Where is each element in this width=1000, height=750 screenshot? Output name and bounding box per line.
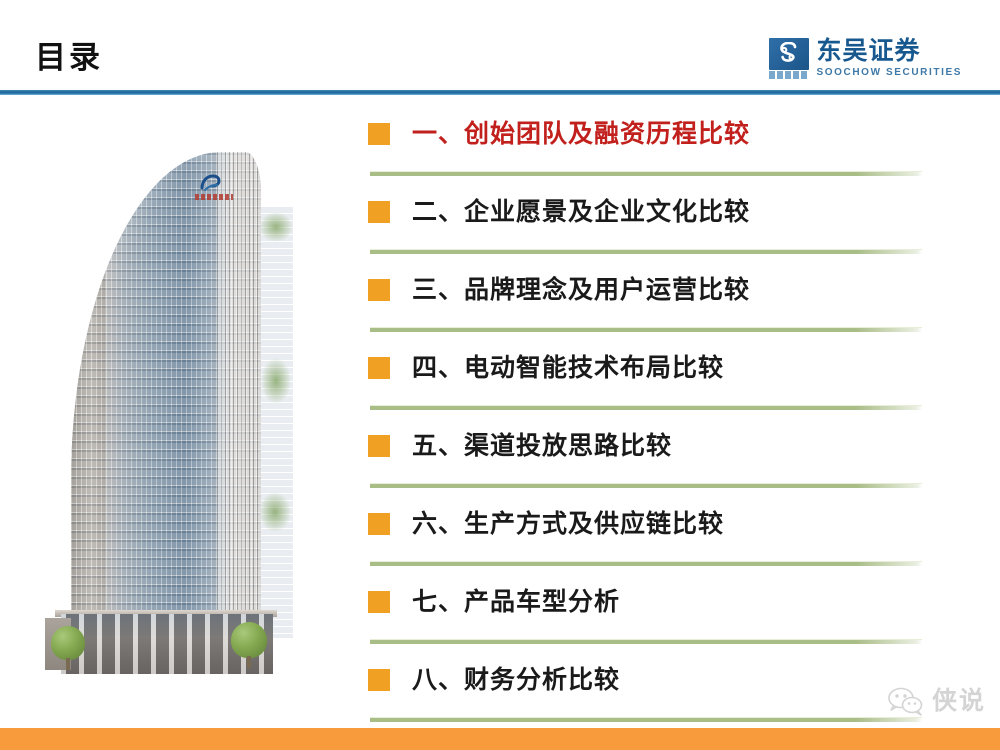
agenda-divider-4 (368, 398, 928, 416)
page-title: 目录 (35, 42, 103, 73)
header-divider (0, 90, 1000, 95)
brand-text: 东吴证券 SOOCHOW SECURITIES (817, 39, 962, 78)
tower-body (71, 152, 261, 650)
brand-mark-glyph (776, 42, 801, 66)
bullet-square-icon (368, 123, 390, 145)
agenda-divider-6 (368, 554, 928, 572)
agenda-item-1[interactable]: 一、创始团队及融资历程比较 (368, 104, 928, 164)
brand-name-cn: 东吴证券 (817, 39, 962, 64)
slide-root: 目录 东吴证券 SOOCHOW SECURITIES (0, 0, 1000, 750)
agenda-item-label: 三、品牌理念及用户运营比较 (412, 278, 750, 303)
footer-bar (0, 728, 1000, 750)
agenda-divider-1 (368, 164, 928, 182)
slide-header: 目录 东吴证券 SOOCHOW SECURITIES (0, 0, 1000, 94)
bullet-square-icon (368, 357, 390, 379)
tree-left-trunk (66, 658, 70, 670)
agenda-item-5[interactable]: 五、渠道投放思路比较 (368, 416, 928, 476)
agenda-item-6[interactable]: 六、生产方式及供应链比较 (368, 494, 928, 554)
agenda-item-label: 二、企业愿景及企业文化比较 (412, 200, 750, 225)
agenda-divider-2 (368, 242, 928, 260)
brand-name-en: SOOCHOW SECURITIES (817, 68, 962, 78)
bullet-square-icon (368, 279, 390, 301)
agenda-item-2[interactable]: 二、企业愿景及企业文化比较 (368, 182, 928, 242)
agenda-item-label: 六、生产方式及供应链比较 (412, 512, 724, 537)
building-logo-glyph (199, 174, 221, 192)
agenda-divider-5 (368, 476, 928, 494)
agenda-list: 一、创始团队及融资历程比较 二、企业愿景及企业文化比较 三、品牌理念及用户运营比… (368, 104, 928, 728)
slab-reflection-3 (259, 492, 291, 532)
tree-right-trunk (247, 656, 251, 668)
agenda-item-label: 八、财务分析比较 (412, 668, 620, 693)
agenda-item-label: 一、创始团队及融资历程比较 (412, 122, 750, 147)
bullet-square-icon (368, 201, 390, 223)
watermark-label: 侠说 (932, 689, 986, 714)
agenda-item-3[interactable]: 三、品牌理念及用户运营比较 (368, 260, 928, 320)
agenda-item-label: 四、电动智能技术布局比较 (412, 356, 724, 381)
agenda-item-7[interactable]: 七、产品车型分析 (368, 572, 928, 632)
bullet-square-icon (368, 669, 390, 691)
agenda-divider-3 (368, 320, 928, 338)
building-logo-text (195, 194, 233, 200)
slab-reflection-2 (261, 358, 291, 404)
wechat-icon (886, 686, 926, 716)
soochow-s-mark-icon (769, 38, 809, 78)
agenda-item-label: 五、渠道投放思路比较 (412, 434, 672, 459)
agenda-item-label: 七、产品车型分析 (412, 590, 620, 615)
agenda-divider-7 (368, 632, 928, 650)
slab-reflection-1 (259, 212, 293, 242)
tree-left-icon (51, 626, 85, 660)
office-tower-photo (45, 120, 310, 680)
tower-service-core (217, 152, 261, 650)
bullet-square-icon (368, 591, 390, 613)
bullet-square-icon (368, 513, 390, 535)
building-facade-logo-icon (195, 174, 233, 204)
watermark: 侠说 (886, 686, 986, 716)
wechat-icon-glyph (886, 686, 926, 716)
agenda-item-4[interactable]: 四、电动智能技术布局比较 (368, 338, 928, 398)
brand-mark-strip (769, 70, 809, 79)
bullet-square-icon (368, 435, 390, 457)
tree-right-icon (231, 622, 267, 658)
agenda-item-8[interactable]: 八、财务分析比较 (368, 650, 928, 710)
glass-slab-wing (257, 206, 293, 638)
brand-logo: 东吴证券 SOOCHOW SECURITIES (769, 38, 962, 78)
